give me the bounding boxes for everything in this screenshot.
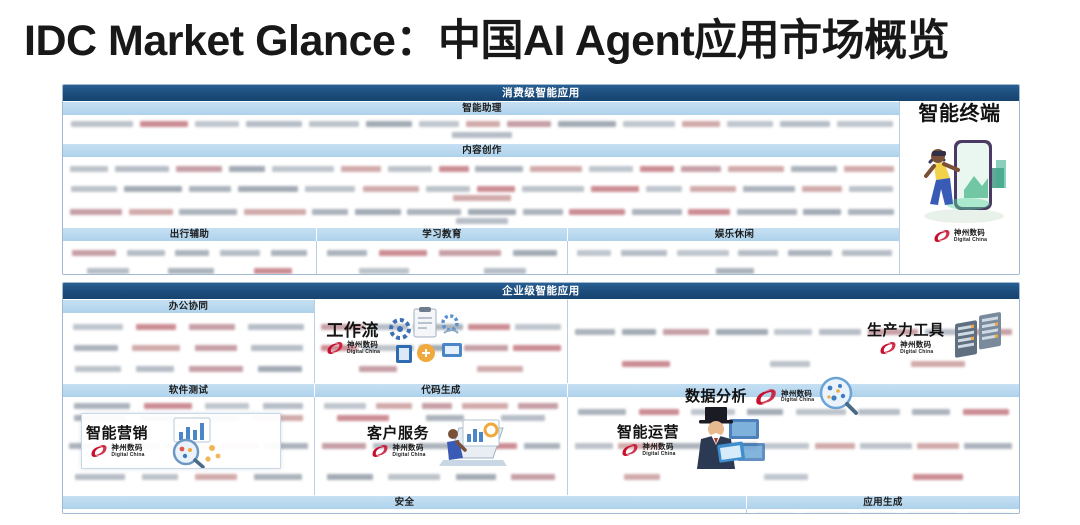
vendor-logo	[327, 250, 367, 256]
brand-name-cn: 神州数码	[954, 229, 987, 237]
vendor-logos	[63, 115, 901, 143]
feature-intelligent-marketing[interactable]: 智能营销 神州数码 Digital China	[81, 413, 281, 469]
vendor-logo	[189, 186, 231, 192]
vendor-logo	[511, 474, 555, 480]
vendor-logo	[646, 186, 682, 192]
vendor-logos	[317, 241, 567, 275]
vendor-logo	[621, 250, 667, 256]
band-code-generation[interactable]: 代码生成	[314, 383, 567, 397]
vendor-logo	[912, 409, 950, 415]
page-title: IDC Market Glance：中国AI Agent应用市场概览	[24, 14, 1064, 68]
vendor-logo	[632, 209, 682, 215]
vendor-logo	[622, 361, 670, 367]
digital-china-wordmark: 神州数码 Digital China	[954, 229, 987, 243]
vendor-logo	[530, 166, 582, 172]
vendor-logos	[63, 509, 746, 514]
vendor-logo	[238, 186, 298, 192]
vendor-logo	[468, 209, 516, 215]
vendor-logo	[376, 403, 412, 409]
server-rack-illustration	[949, 309, 1009, 367]
vendor-logo	[522, 186, 584, 192]
vendor-logo	[70, 166, 108, 172]
vendor-logo	[132, 345, 180, 351]
vendor-logo	[569, 209, 625, 215]
vendor-logo	[802, 186, 842, 192]
vendor-logo	[229, 166, 265, 172]
brand-name-en: Digital China	[781, 398, 814, 403]
brand-name-en: Digital China	[954, 238, 987, 243]
vendor-logo	[312, 209, 348, 215]
vendor-logo	[780, 121, 830, 127]
brand-name-en: Digital China	[392, 453, 425, 458]
vendor-logo	[324, 403, 366, 409]
vendor-logo	[558, 121, 616, 127]
feature-label: 智能运营	[617, 423, 679, 442]
vendor-logo	[87, 268, 129, 274]
logo-strip-consumer-bottom	[63, 241, 901, 275]
vendor-logo	[677, 250, 729, 256]
brand-name-cn: 神州数码	[781, 390, 814, 398]
band-travel-assistance[interactable]: 出行辅助	[63, 227, 316, 241]
digital-china-wordmark: 神州数码 Digital China	[111, 444, 144, 458]
feature-text: 智能运营 神州数码 Digital China	[613, 423, 683, 457]
vendor-logo	[575, 443, 613, 449]
vendor-logo	[271, 250, 307, 256]
vendor-logo	[452, 132, 512, 138]
vendor-logo	[737, 209, 797, 215]
vendor-logo	[640, 166, 674, 172]
vendor-logo	[341, 166, 381, 172]
logo-strip-content-1	[63, 157, 901, 181]
band-app-generation[interactable]: 应用生成	[746, 495, 1019, 509]
band-row-consumer-bottom: 出行辅助 学习教育 娱乐休闲	[63, 227, 901, 241]
vendor-logo	[363, 186, 419, 192]
digital-china-logo: 神州数码 Digital China	[89, 444, 144, 458]
digital-china-swirl-icon	[370, 444, 390, 458]
digital-china-swirl-icon	[89, 444, 109, 458]
logo-strip-content-3	[63, 204, 901, 227]
workflow-gears-clipboard-illustration	[384, 307, 470, 369]
feature-text: 客户服务 神州数码 Digital China	[363, 424, 433, 458]
vendor-logo	[322, 443, 366, 449]
vendor-logo	[738, 250, 778, 256]
brand-name-en: Digital China	[900, 350, 933, 355]
vendor-logo	[388, 166, 432, 172]
brand-name-cn: 神州数码	[347, 341, 380, 349]
feature-customer-service[interactable]: 客户服务 神州数码 Digital China	[363, 413, 563, 469]
laptop-dashboard-person-illustration	[433, 412, 513, 470]
digital-china-logo: 神州数码 Digital China	[370, 444, 425, 458]
vendor-logo	[688, 209, 730, 215]
vendor-logo	[964, 443, 1012, 449]
logo-cell	[567, 241, 901, 275]
vendor-logo	[272, 166, 334, 172]
vendor-logo	[327, 474, 373, 480]
vendor-logo	[484, 268, 526, 274]
vendor-logo	[205, 403, 249, 409]
vendor-logo	[589, 166, 633, 172]
band-office-collaboration[interactable]: 办公协同	[63, 299, 314, 313]
vendor-logo	[623, 121, 675, 127]
logo-cell	[746, 509, 1019, 514]
vendor-logo	[462, 403, 508, 409]
vendor-logo	[74, 345, 118, 351]
vendor-logo	[74, 403, 130, 409]
logo-cell	[63, 157, 901, 181]
vendor-logo	[195, 474, 237, 480]
vendor-logo	[71, 186, 117, 192]
vendor-logo	[136, 366, 174, 372]
digital-china-logo: 神州数码 Digital China	[932, 229, 987, 243]
vendor-logo	[622, 329, 656, 335]
vendor-logo	[575, 329, 615, 335]
vendor-logo	[690, 186, 736, 192]
vendor-logo	[72, 250, 116, 256]
band-row-enterprise-4: 安全 应用生成	[63, 495, 1019, 509]
feature-label: 工作流	[326, 321, 379, 340]
section-enterprise: 企业级智能应用 办公协同 软件测试	[62, 282, 1020, 514]
section-consumer: 消费级智能应用 智能助理 内容创作	[62, 84, 1020, 275]
feature-productivity-tools[interactable]: 生产力工具 神州数码 Digital China	[863, 307, 1019, 369]
vendor-logo	[359, 268, 409, 274]
vendor-logo	[70, 209, 122, 215]
digital-china-logo: 神州数码 Digital China	[878, 341, 933, 355]
vendor-logo	[115, 166, 169, 172]
vendor-logo	[518, 403, 558, 409]
digital-china-wordmark: 神州数码 Digital China	[642, 443, 675, 457]
vendor-logo	[963, 409, 1009, 415]
vendor-logo	[195, 121, 239, 127]
vendor-logo	[244, 209, 306, 215]
brand-name-en: Digital China	[642, 452, 675, 457]
vendor-logo	[419, 121, 459, 127]
vendor-logo	[248, 324, 304, 330]
vendor-logo	[728, 166, 784, 172]
vendor-logo	[439, 166, 469, 172]
vendor-logos	[747, 509, 1019, 514]
vendor-logo	[456, 474, 496, 480]
feature-label: 智能营销	[86, 424, 148, 443]
vendor-logo	[507, 121, 551, 127]
vendor-logo	[258, 366, 302, 372]
feature-text: 智能营销 神州数码 Digital China	[82, 424, 152, 458]
digital-china-swirl-icon	[878, 341, 898, 355]
vendor-logo	[788, 250, 832, 256]
vendor-logo	[379, 250, 427, 256]
vendor-logo	[124, 186, 182, 192]
digital-china-wordmark: 神州数码 Digital China	[347, 341, 380, 355]
vendor-logo	[513, 250, 557, 256]
vendor-logo	[837, 121, 893, 127]
vendor-logo	[624, 474, 660, 480]
band-security[interactable]: 安全	[63, 495, 746, 509]
vendor-logo	[220, 250, 260, 256]
vendor-logo	[263, 403, 303, 409]
digital-china-swirl-icon	[325, 341, 345, 355]
vendor-logo	[860, 443, 912, 449]
vendor-logo	[246, 121, 302, 127]
vendor-logo	[254, 474, 302, 480]
logo-strip-enterprise-4	[63, 509, 1019, 514]
logo-strip-assistant	[63, 115, 901, 143]
vendor-logo	[716, 268, 754, 274]
feature-workflow[interactable]: 工作流 神州数码 Digital China	[321, 307, 571, 369]
vendor-logo	[168, 268, 214, 274]
vendor-logo	[842, 250, 892, 256]
vendor-logo	[716, 329, 768, 335]
vendor-logo	[764, 474, 808, 480]
vendor-logo	[73, 324, 123, 330]
section-header-enterprise: 企业级智能应用	[63, 283, 1019, 299]
feature-label: 智能终端	[919, 105, 1001, 124]
vendor-logo	[475, 166, 523, 172]
vendor-logo	[523, 209, 563, 215]
businessman-tophat-screens-illustration	[683, 405, 769, 475]
vendor-logo	[426, 186, 470, 192]
vendor-logo	[917, 443, 959, 449]
feature-text: 工作流 神州数码 Digital China	[321, 321, 384, 355]
vendor-logo	[175, 250, 209, 256]
vendor-logo	[366, 121, 412, 127]
logo-cell	[63, 204, 901, 227]
brand-name-cn: 神州数码	[900, 341, 933, 349]
digital-china-logo: 神州数码 Digital China	[753, 388, 814, 406]
vendor-logo	[407, 209, 461, 215]
vendor-logo	[309, 121, 359, 127]
feature-label: 客户服务	[367, 424, 429, 443]
feature-text: 生产力工具 神州数码 Digital China	[863, 321, 949, 355]
vendor-logo	[136, 324, 176, 330]
vendor-logo	[142, 474, 178, 480]
feature-label: 数据分析	[685, 387, 747, 406]
vendor-logo	[453, 195, 511, 201]
vendor-logo	[189, 324, 235, 330]
vendor-logo	[75, 366, 121, 372]
vendor-logo	[774, 329, 812, 335]
vendor-logo	[682, 121, 720, 127]
logo-cell	[63, 313, 314, 383]
vendor-logos	[63, 313, 314, 383]
logo-cell	[63, 181, 901, 204]
brand-name-en: Digital China	[347, 350, 380, 355]
vendor-logo	[189, 366, 243, 372]
vendor-logo	[129, 209, 173, 215]
vendor-logo	[71, 121, 133, 127]
vendor-logos	[63, 204, 901, 227]
vendor-logo	[422, 403, 452, 409]
digital-china-swirl-icon	[932, 229, 952, 243]
digital-china-swirl-icon	[620, 443, 640, 457]
brand-name-cn: 神州数码	[392, 444, 425, 452]
brand-name-cn: 神州数码	[642, 443, 675, 451]
magnifier-bar-chart-illustration	[152, 414, 226, 468]
vendor-logo	[305, 186, 355, 192]
vendor-logo	[140, 121, 188, 127]
vendor-logo	[466, 121, 500, 127]
vendor-logo	[727, 121, 773, 127]
vendor-logo	[388, 474, 440, 480]
vendor-logo	[591, 186, 639, 192]
vendor-logo	[355, 209, 401, 215]
band-content-creation[interactable]: 内容创作	[63, 143, 901, 157]
vendor-logo	[770, 361, 810, 367]
vendor-logo	[179, 209, 237, 215]
vendor-logo	[251, 345, 303, 351]
vendor-logo	[176, 166, 222, 172]
vendor-logo	[477, 186, 515, 192]
vendor-logo	[844, 166, 894, 172]
vendor-logo	[456, 218, 508, 224]
band-intelligent-assistant[interactable]: 智能助理	[63, 101, 901, 115]
vendor-logos	[63, 181, 901, 204]
feature-intelligent-operations[interactable]: 智能运营 神州数码 Digital China	[613, 409, 823, 471]
digital-china-wordmark: 神州数码 Digital China	[392, 444, 425, 458]
logo-cell	[63, 509, 746, 514]
logo-strip-content-2	[63, 181, 901, 204]
vendor-logo	[577, 250, 611, 256]
digital-china-wordmark: 神州数码 Digital China	[900, 341, 933, 355]
section-header-consumer: 消费级智能应用	[63, 85, 1019, 101]
vendor-logo	[144, 403, 192, 409]
vendor-logo	[848, 209, 894, 215]
band-software-testing[interactable]: 软件测试	[63, 383, 314, 397]
digital-china-swirl-icon	[753, 388, 779, 406]
vendor-logo	[127, 250, 165, 256]
logo-cell	[63, 241, 316, 275]
brand-name-cn: 神州数码	[111, 444, 144, 452]
vendor-logo	[663, 329, 709, 335]
vendor-logo	[254, 268, 292, 274]
feature-intelligent-terminal[interactable]: 智能终端	[899, 101, 1019, 275]
vendor-logo	[803, 209, 841, 215]
digital-china-wordmark: 神州数码 Digital China	[781, 390, 814, 404]
vendor-logo	[849, 186, 893, 192]
person-ar-phone-illustration	[908, 124, 1012, 228]
vendor-logo	[439, 250, 501, 256]
vendor-logo	[913, 474, 963, 480]
feature-label: 生产力工具	[867, 321, 945, 340]
market-glance-board: 消费级智能应用 智能助理 内容创作	[62, 84, 1020, 514]
slide-canvas: IDC Market Glance：中国AI Agent应用市场概览 消费级智能…	[0, 0, 1080, 525]
vendor-logo	[819, 329, 861, 335]
vendor-logos	[63, 241, 316, 275]
vendor-logo	[791, 166, 837, 172]
brand-name-en: Digital China	[111, 453, 144, 458]
logo-cell	[63, 115, 901, 143]
band-learning-education[interactable]: 学习教育	[316, 227, 567, 241]
vendor-logos	[568, 241, 901, 275]
vendor-logo	[195, 345, 237, 351]
digital-china-logo: 神州数码 Digital China	[620, 443, 675, 457]
vendor-logo	[743, 186, 795, 192]
digital-china-logo: 神州数码 Digital China	[325, 341, 380, 355]
band-entertainment-leisure[interactable]: 娱乐休闲	[567, 227, 901, 241]
vendor-logo	[75, 474, 125, 480]
vendor-logo	[681, 166, 721, 172]
logo-cell	[316, 241, 567, 275]
vendor-logos	[63, 157, 901, 181]
